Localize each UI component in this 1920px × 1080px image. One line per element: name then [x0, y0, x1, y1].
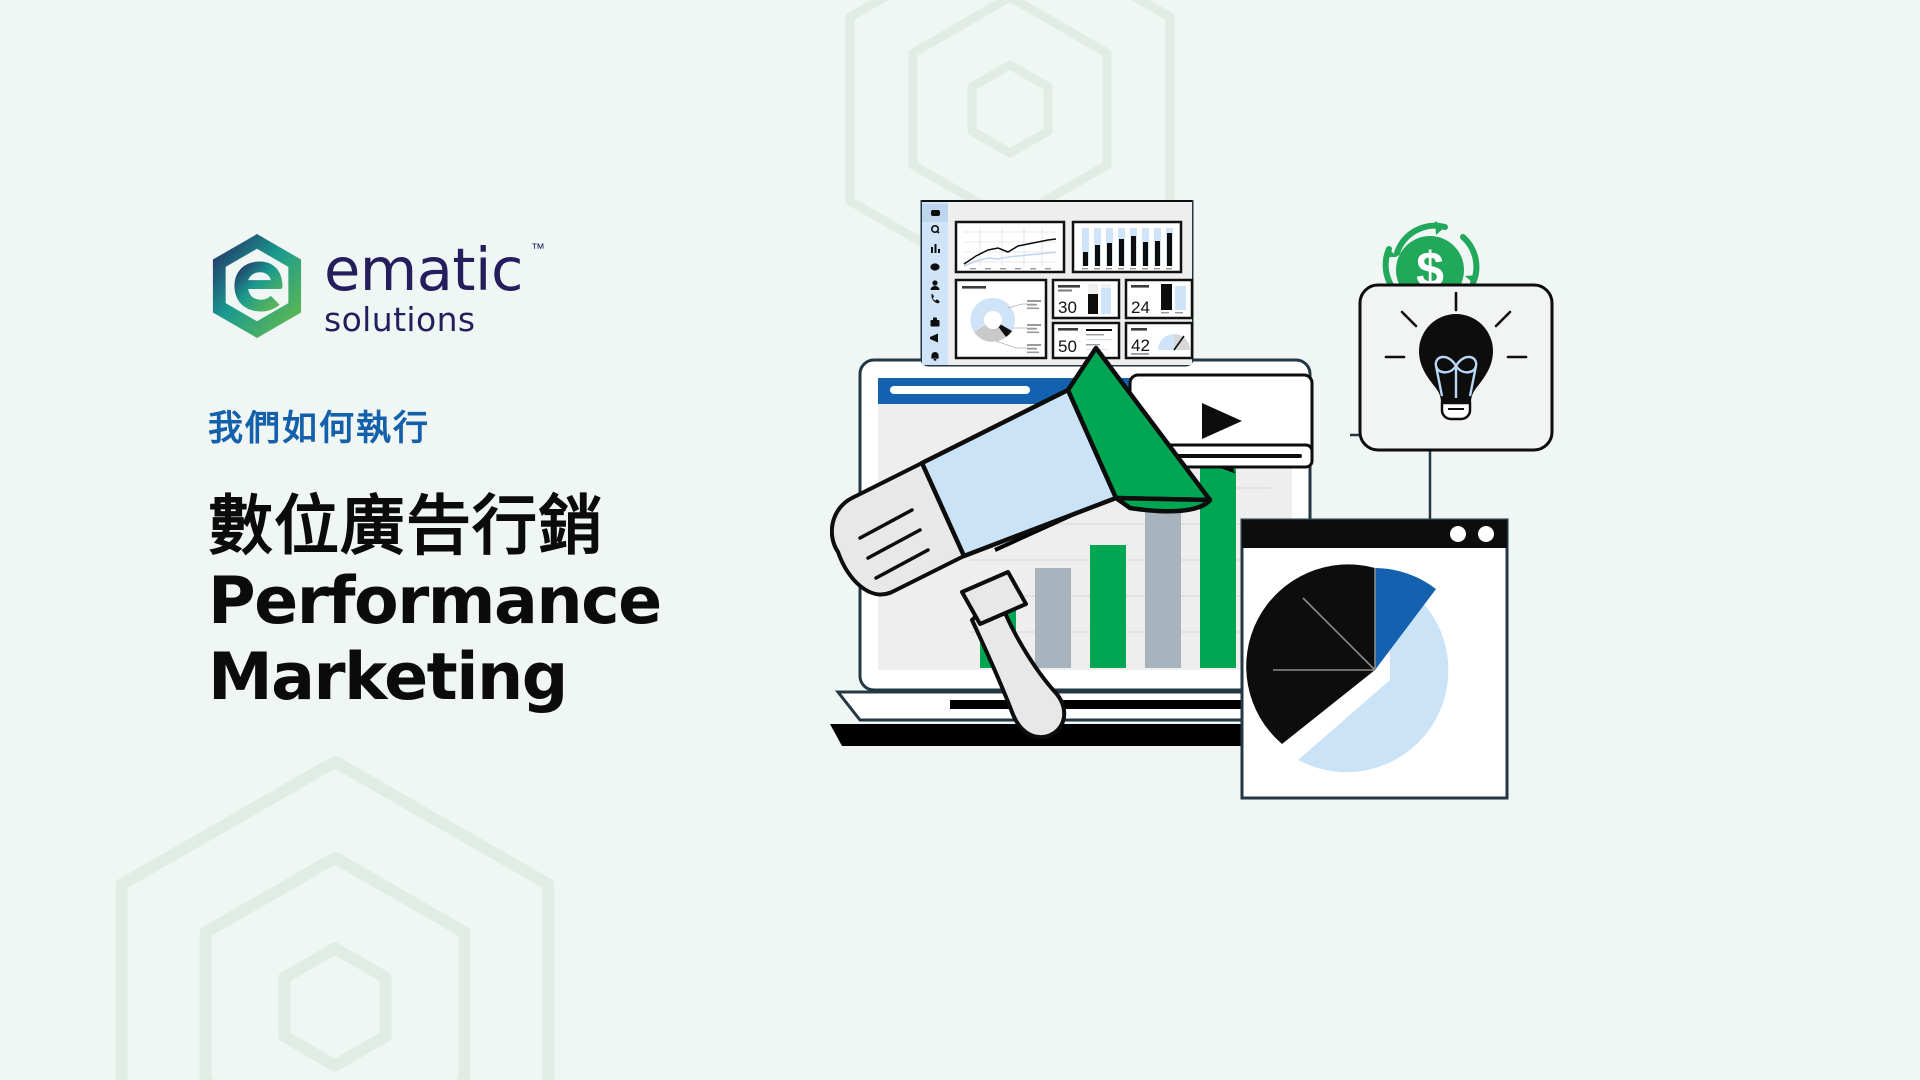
ematic-hexagon-e-logomark — [208, 232, 306, 340]
brand-tagline: solutions — [324, 300, 523, 339]
trademark-symbol: ™ — [531, 240, 545, 256]
donut-chart — [970, 298, 1015, 342]
bar-3 — [1090, 545, 1126, 668]
brand-name: ematic — [324, 242, 523, 298]
brand-logo[interactable]: ematic ™ solutions — [208, 232, 828, 340]
pie-window-dot-2[interactable] — [1478, 526, 1494, 542]
illustration: 30 24 50 — [830, 200, 1830, 1000]
text-column: ematic ™ solutions 我們如何執行 數位廣告行銷 Perform… — [208, 232, 828, 715]
analytics-dashboard-window: 30 24 50 — [922, 200, 1192, 365]
svg-text:30: 30 — [1058, 298, 1077, 317]
page-title: 數位廣告行銷 Performance Marketing — [208, 489, 828, 715]
headline-line-1: 數位廣告行銷 — [208, 489, 828, 564]
background-watermark-hexagon-bottom — [55, 735, 615, 1080]
bar-chart-card[interactable] — [1073, 222, 1181, 272]
headline-line-3: Marketing — [208, 640, 828, 715]
email-support-metric-card[interactable]: 50 — [1053, 323, 1119, 358]
bar-2 — [1035, 568, 1071, 668]
svg-text:42: 42 — [1131, 336, 1150, 355]
megaphone-bell-lip — [1116, 498, 1210, 511]
home-icon[interactable] — [931, 210, 940, 216]
brand-wordmark: ematic ™ solutions — [324, 232, 523, 339]
headline-line-2: Performance — [208, 564, 828, 639]
donut-chart-card[interactable] — [956, 280, 1046, 358]
conversion-metric-card[interactable]: 30 — [1053, 280, 1119, 318]
chat-icon[interactable] — [930, 263, 939, 270]
report-metric-card[interactable]: 42 — [1126, 323, 1192, 358]
pie-window-dot-1[interactable] — [1450, 526, 1466, 542]
lightbulb-idea-card — [1350, 285, 1552, 520]
donut-card-label — [962, 286, 986, 289]
address-field — [890, 386, 1030, 394]
svg-text:50: 50 — [1058, 337, 1077, 356]
laptop-trackpad-bar — [950, 700, 1250, 709]
bar-5 — [1200, 458, 1236, 668]
bar-4 — [1145, 507, 1181, 668]
line-chart-card[interactable] — [956, 222, 1064, 272]
svg-text:24: 24 — [1131, 298, 1150, 317]
click-rate-metric-card[interactable]: 24 — [1126, 280, 1192, 318]
pie-window-titlebar — [1242, 520, 1507, 548]
eyebrow-text: 我們如何執行 — [208, 400, 828, 451]
pie-chart-window — [1242, 520, 1507, 798]
